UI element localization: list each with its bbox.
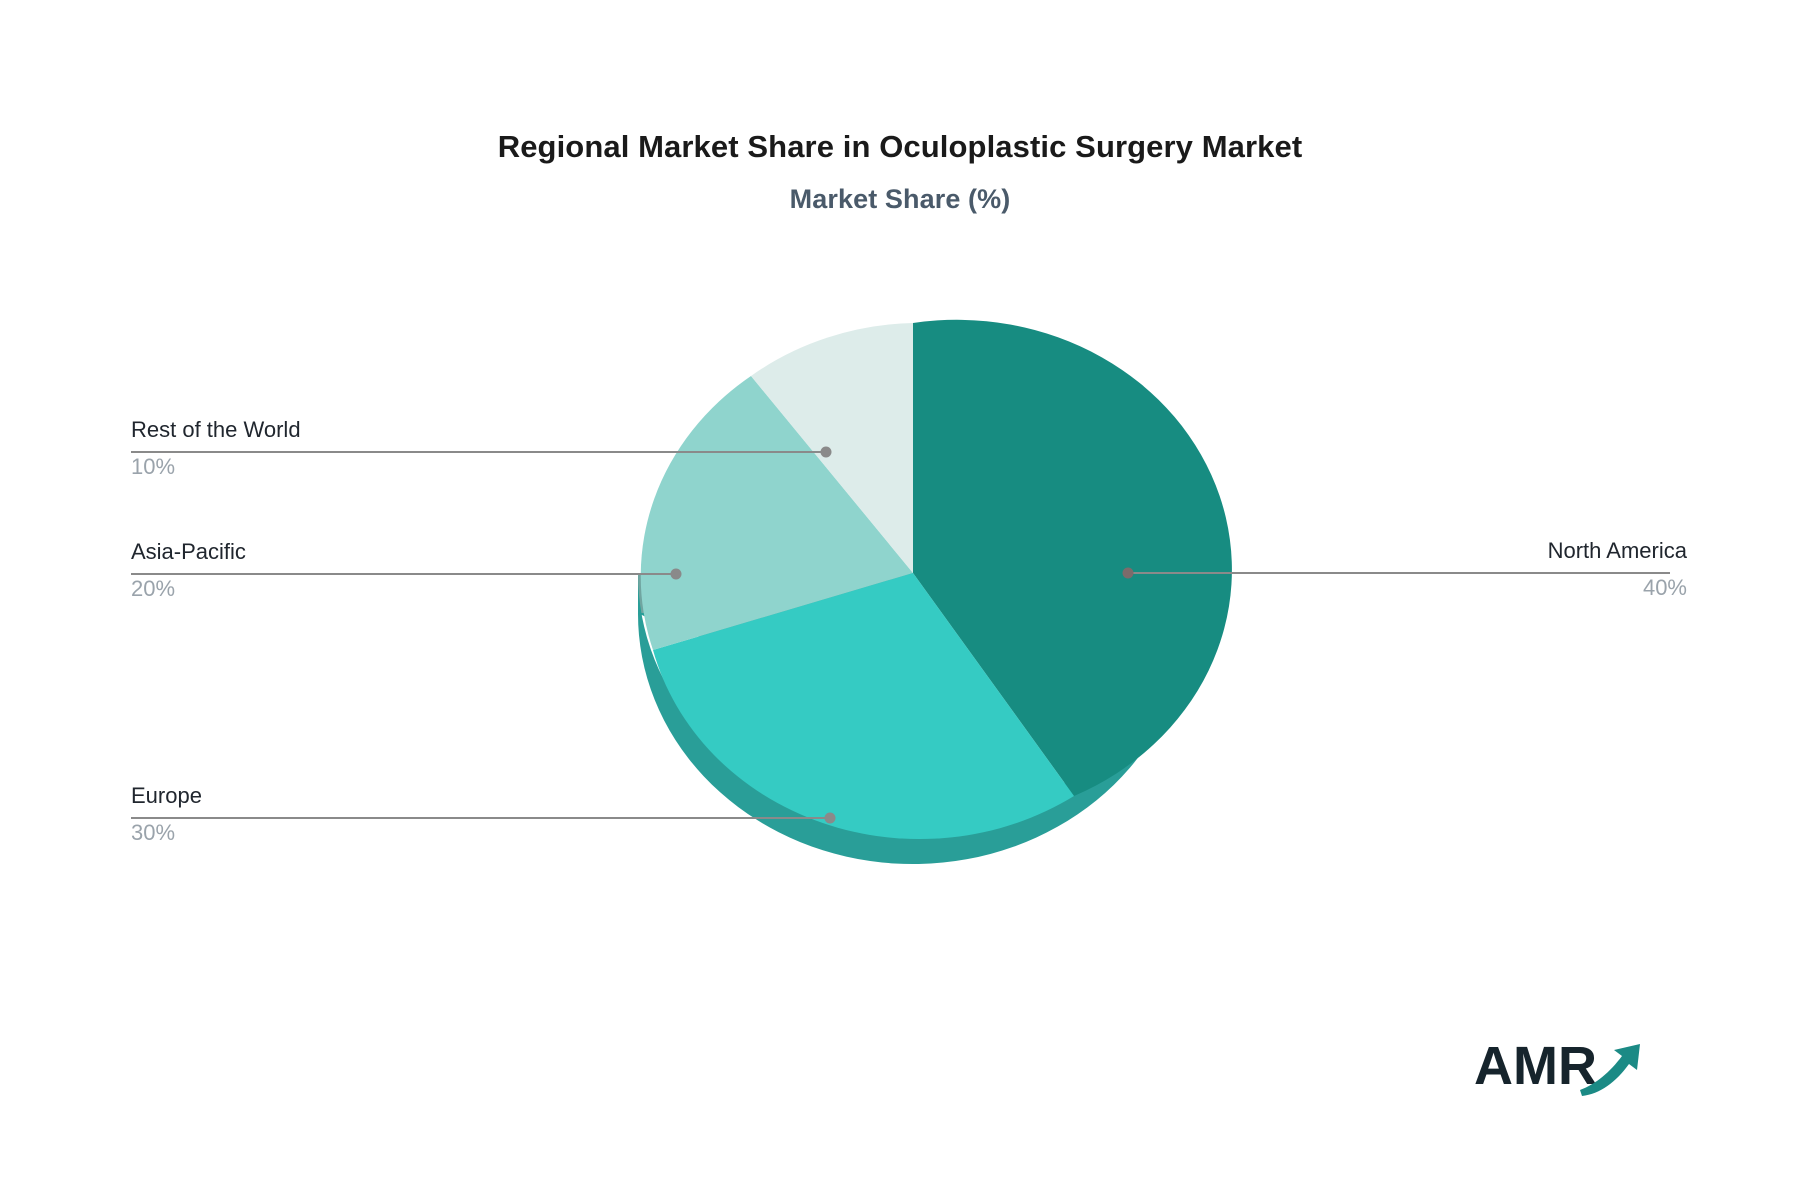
callout-rest-of-the-world: Rest of the World 10%: [131, 416, 301, 480]
callout-label-europe: Europe: [131, 782, 202, 810]
callout-label-asia-pacific: Asia-Pacific: [131, 538, 246, 566]
callout-label-north-america: North America: [1548, 537, 1687, 565]
callout-asia-pacific: Asia-Pacific 20%: [131, 538, 246, 602]
callout-value-north-america: 40%: [1548, 574, 1687, 602]
callout-value-asia-pacific: 20%: [131, 575, 246, 603]
amr-logo: AMR: [1474, 1032, 1654, 1104]
callout-label-rest-of-the-world: Rest of the World: [131, 416, 301, 444]
callout-north-america: North America 40%: [1548, 537, 1687, 601]
callout-value-rest-of-the-world: 10%: [131, 453, 301, 481]
pie-top-faces: [641, 320, 1232, 839]
leader-dot-europe: [825, 813, 836, 824]
callout-europe: Europe 30%: [131, 782, 202, 846]
amr-logo-text: AMR: [1474, 1036, 1597, 1096]
leader-dot-north-america: [1123, 568, 1134, 579]
leader-dot-rest-of-the-world: [821, 447, 832, 458]
pie-graphic: [0, 0, 1800, 1196]
leader-dot-asia-pacific: [671, 569, 682, 580]
callout-value-europe: 30%: [131, 819, 202, 847]
pie-chart-figure: Regional Market Share in Oculoplastic Su…: [0, 0, 1800, 1196]
